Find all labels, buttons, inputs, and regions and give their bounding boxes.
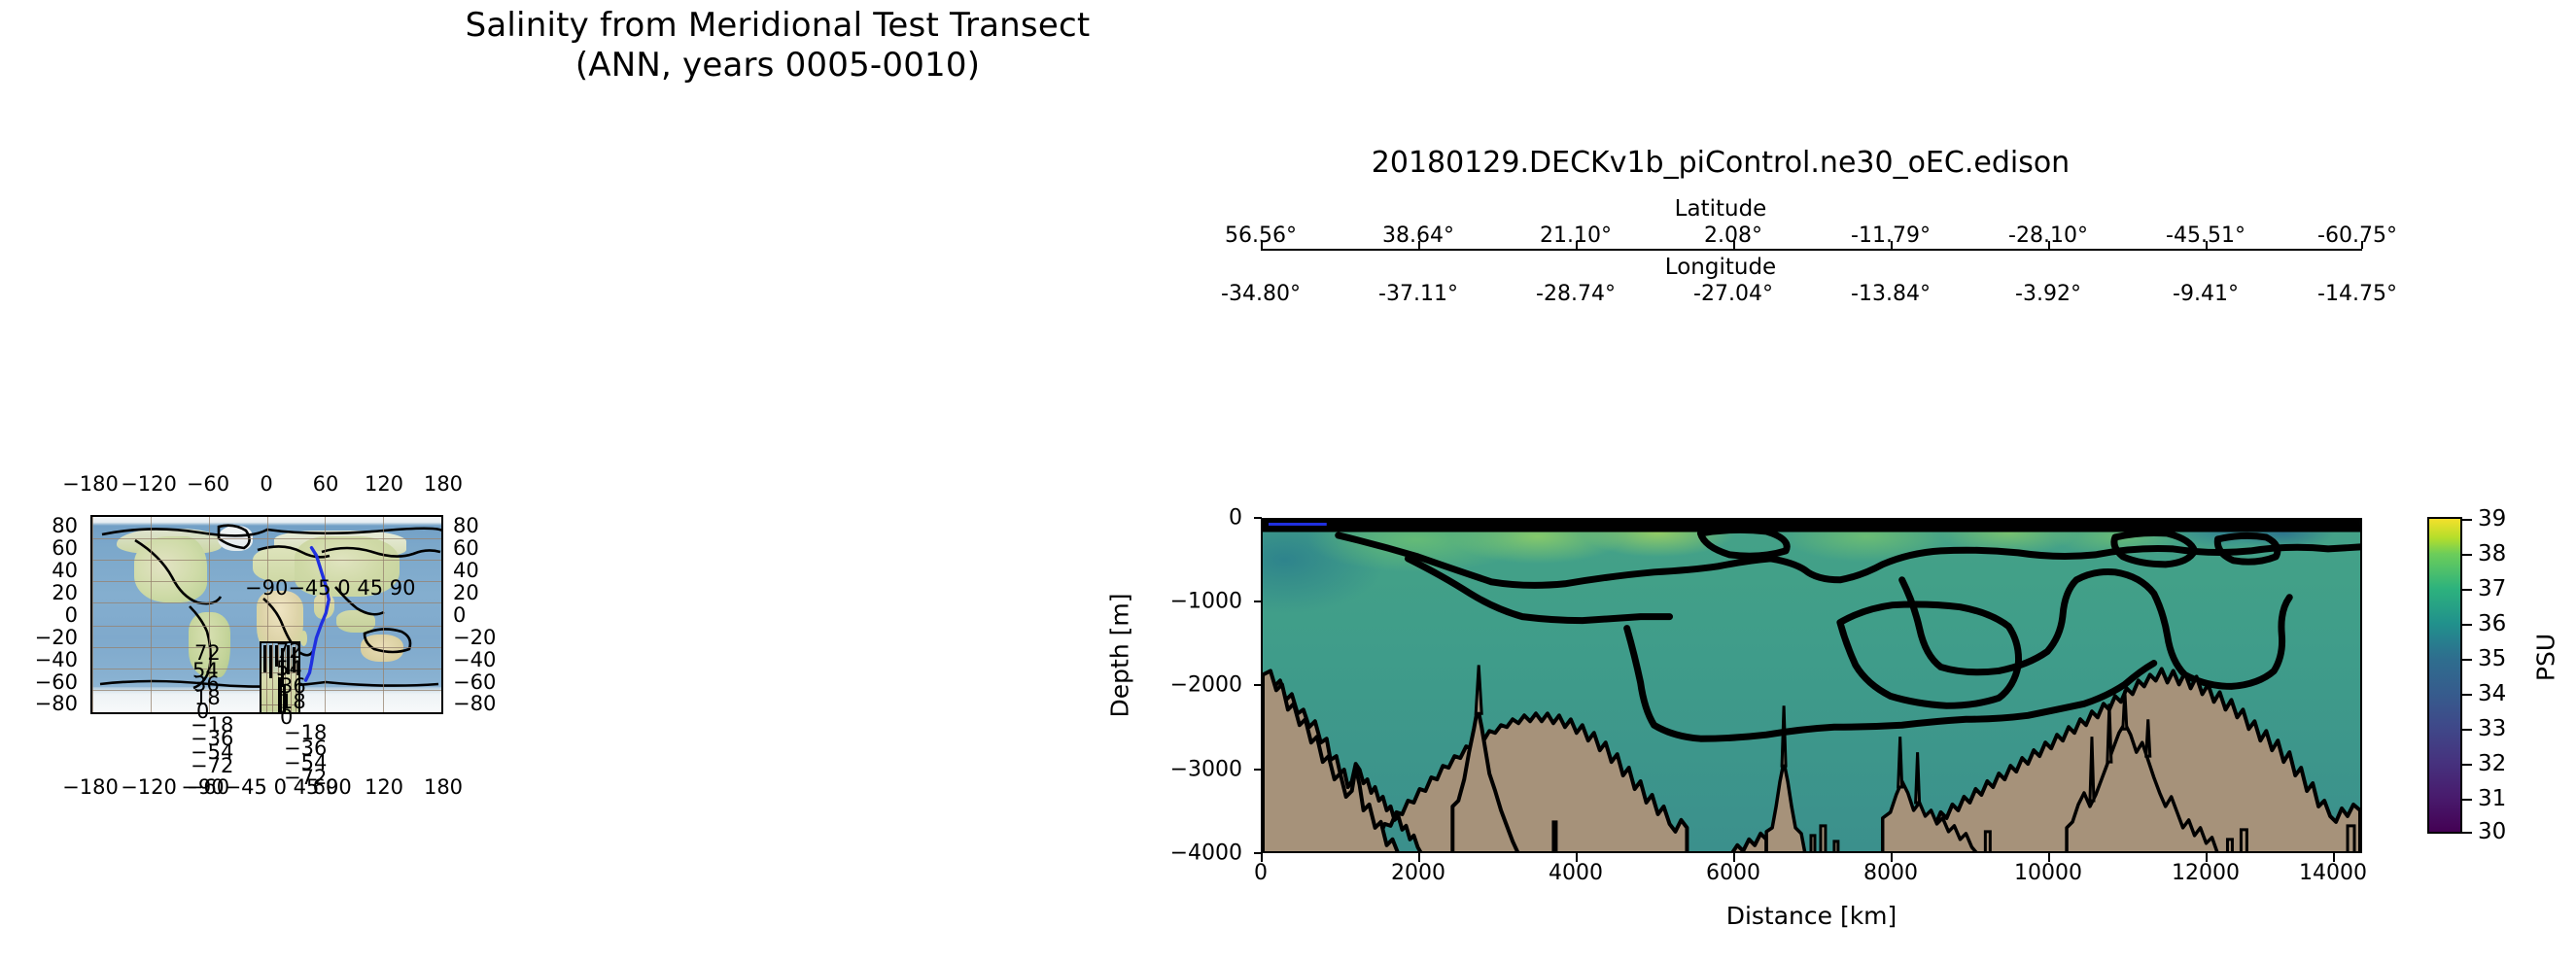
artifact-label: −18 <box>191 713 233 737</box>
depth-tick-labels: 0 −1000 −2000 −3000 −4000 <box>1108 518 1254 853</box>
longitude-tick: -3.92° <box>2015 282 2081 306</box>
map-lon-tick: −60 <box>187 472 229 496</box>
map-lat-tick: 80 <box>453 514 479 537</box>
latitude-axis-tick <box>1261 241 1263 249</box>
map-lat-tick: 0 <box>453 603 466 627</box>
distance-tick: 8000 <box>1863 861 1918 885</box>
colorbar-tick-label: 31 <box>2478 786 2506 811</box>
colorbar-gradient <box>2427 517 2462 834</box>
distance-tick: 12000 <box>2172 861 2240 885</box>
latitude-axis-title: Latitude <box>1069 196 2372 222</box>
map-lat-tick: 20 <box>52 581 78 604</box>
figure-title-line2: (ANN, years 0005-0010) <box>0 46 1555 86</box>
colorbar: 39 38 37 36 35 34 33 32 31 30 PSU <box>2427 517 2573 847</box>
latitude-axis-rule <box>1261 249 2362 251</box>
longitude-tick: -27.04° <box>1693 282 1773 306</box>
map-lat-tick: −40 <box>453 648 496 671</box>
longitude-tick: -37.11° <box>1378 282 1458 306</box>
colorbar-tick-label: 35 <box>2478 646 2506 671</box>
map-lat-tick: 20 <box>453 581 479 604</box>
transect-locator-map-panel: −180 −120 −60 0 60 120 180 80 60 40 20 0… <box>0 457 544 884</box>
colorbar-tick-label: 38 <box>2478 541 2506 566</box>
salinity-section-plot <box>1261 518 2362 853</box>
latitude-tick: -60.75° <box>2317 223 2397 248</box>
distance-tick-labels: 0 2000 4000 6000 8000 10000 12000 14000 <box>1261 861 2362 890</box>
longitude-tick: -34.80° <box>1221 282 1301 306</box>
map-lon-tick: 120 <box>365 775 403 799</box>
depth-tick: −2000 <box>1170 673 1242 698</box>
longitude-tick: -13.84° <box>1851 282 1931 306</box>
map-lon-tick: 60 <box>313 775 339 799</box>
map-lon-tick: −180 <box>62 775 119 799</box>
artifact-label: −54 <box>284 751 327 774</box>
longitude-tick: -14.75° <box>2317 282 2397 306</box>
map-lon-tick: −180 <box>62 472 119 496</box>
colorbar-tick-label: 34 <box>2478 681 2506 706</box>
map-lat-tick: 40 <box>52 559 78 582</box>
depth-tick: −1000 <box>1170 590 1242 614</box>
map-lon-ticks-top: −180 −120 −60 0 60 120 180 <box>0 472 544 498</box>
figure-title-line1: Salinity from Meridional Test Transect <box>0 6 1555 46</box>
map-lat-tick: −20 <box>35 626 78 649</box>
map-lat-tick: 60 <box>52 536 78 560</box>
artifact-label: −36 <box>191 727 233 750</box>
run-name-subtitle: 20180129.DECKv1b_piControl.ne30_oEC.edis… <box>1069 146 2372 180</box>
map-lat-tick: −60 <box>453 670 496 694</box>
map-lat-tick: −60 <box>35 670 78 694</box>
map-lat-ticks-right: 80 60 40 20 0 −20 −40 −60 −80 <box>447 515 535 714</box>
map-lat-tick: 0 <box>65 603 78 627</box>
distance-tick: 6000 <box>1706 861 1760 885</box>
latitude-axis-tick <box>2048 241 2050 249</box>
map-lat-tick: 40 <box>453 559 479 582</box>
map-lat-tick: −40 <box>35 648 78 671</box>
map-lat-tick: −80 <box>35 692 78 715</box>
map-lon-tick: −120 <box>121 775 177 799</box>
map-lat-ticks-left: 80 60 40 20 0 −20 −40 −60 −80 <box>0 515 86 714</box>
map-lon-tick: 120 <box>365 472 403 496</box>
figure-title: Salinity from Meridional Test Transect (… <box>0 6 1555 86</box>
depth-tick: −4000 <box>1170 841 1242 866</box>
colorbar-unit-label: PSU <box>2532 600 2560 716</box>
colorbar-tick-label: 39 <box>2478 506 2506 532</box>
latitude-axis-tick <box>1891 241 1893 249</box>
distance-tick: 14000 <box>2299 861 2367 885</box>
longitude-tick-labels: -34.80° -37.11° -28.74° -27.04° -13.84° … <box>1069 282 2372 307</box>
colorbar-tick-label: 32 <box>2478 751 2506 776</box>
latitude-axis-tick <box>2206 241 2208 249</box>
distance-tick: 0 <box>1254 861 1268 885</box>
latitude-axis-tick <box>2361 241 2363 249</box>
map-lon-tick: 180 <box>424 472 463 496</box>
artifact-label: −72 <box>191 754 233 777</box>
map-lon-ticks-bottom: −180 −120 −60 −90−45 0 45 90 60 120 180 <box>0 775 544 801</box>
latitude-axis-tick <box>1733 241 1735 249</box>
distance-tick: 4000 <box>1549 861 1603 885</box>
latitude-tick-labels: 56.56° 38.64° 21.10° 2.08° -11.79° -28.1… <box>1069 223 2372 249</box>
colorbar-tick-label: 36 <box>2478 611 2506 636</box>
map-lon-tick: 60 <box>313 472 339 496</box>
artifact-label: −54 <box>191 740 233 764</box>
artifact-label: −36 <box>284 737 327 760</box>
distance-tick: 10000 <box>2014 861 2082 885</box>
map-lon-tick: 0 <box>260 472 272 496</box>
map-lon-tick: −120 <box>121 472 177 496</box>
colorbar-tick-label: 30 <box>2478 819 2506 844</box>
depth-tick: 0 <box>1229 506 1242 531</box>
latitude-axis-tick <box>1576 241 1578 249</box>
longitude-axis-title: Longitude <box>1069 255 2372 280</box>
world-map <box>90 515 443 714</box>
bathymetry-mask <box>1263 520 2360 853</box>
overlapping-inset-axes-artifact <box>260 641 300 714</box>
latitude-axis-tick <box>1418 241 1420 249</box>
colorbar-tick-label: 33 <box>2478 716 2506 741</box>
salinity-transect-panel: 20180129.DECKv1b_piControl.ne30_oEC.edis… <box>1069 136 2576 961</box>
colorbar-tick-label: 37 <box>2478 576 2506 601</box>
longitude-tick: -28.74° <box>1536 282 1616 306</box>
map-lat-tick: −80 <box>453 692 496 715</box>
map-lat-tick: 80 <box>52 514 78 537</box>
map-lat-tick: −20 <box>453 626 496 649</box>
map-lon-tick: 180 <box>424 775 463 799</box>
distance-tick: 2000 <box>1391 861 1445 885</box>
artifact-label: −18 <box>284 721 327 744</box>
map-lat-tick: 60 <box>453 536 479 560</box>
distance-axis-label: Distance [km] <box>1261 902 2362 930</box>
depth-tick: −3000 <box>1170 758 1242 782</box>
longitude-tick: -9.41° <box>2173 282 2239 306</box>
